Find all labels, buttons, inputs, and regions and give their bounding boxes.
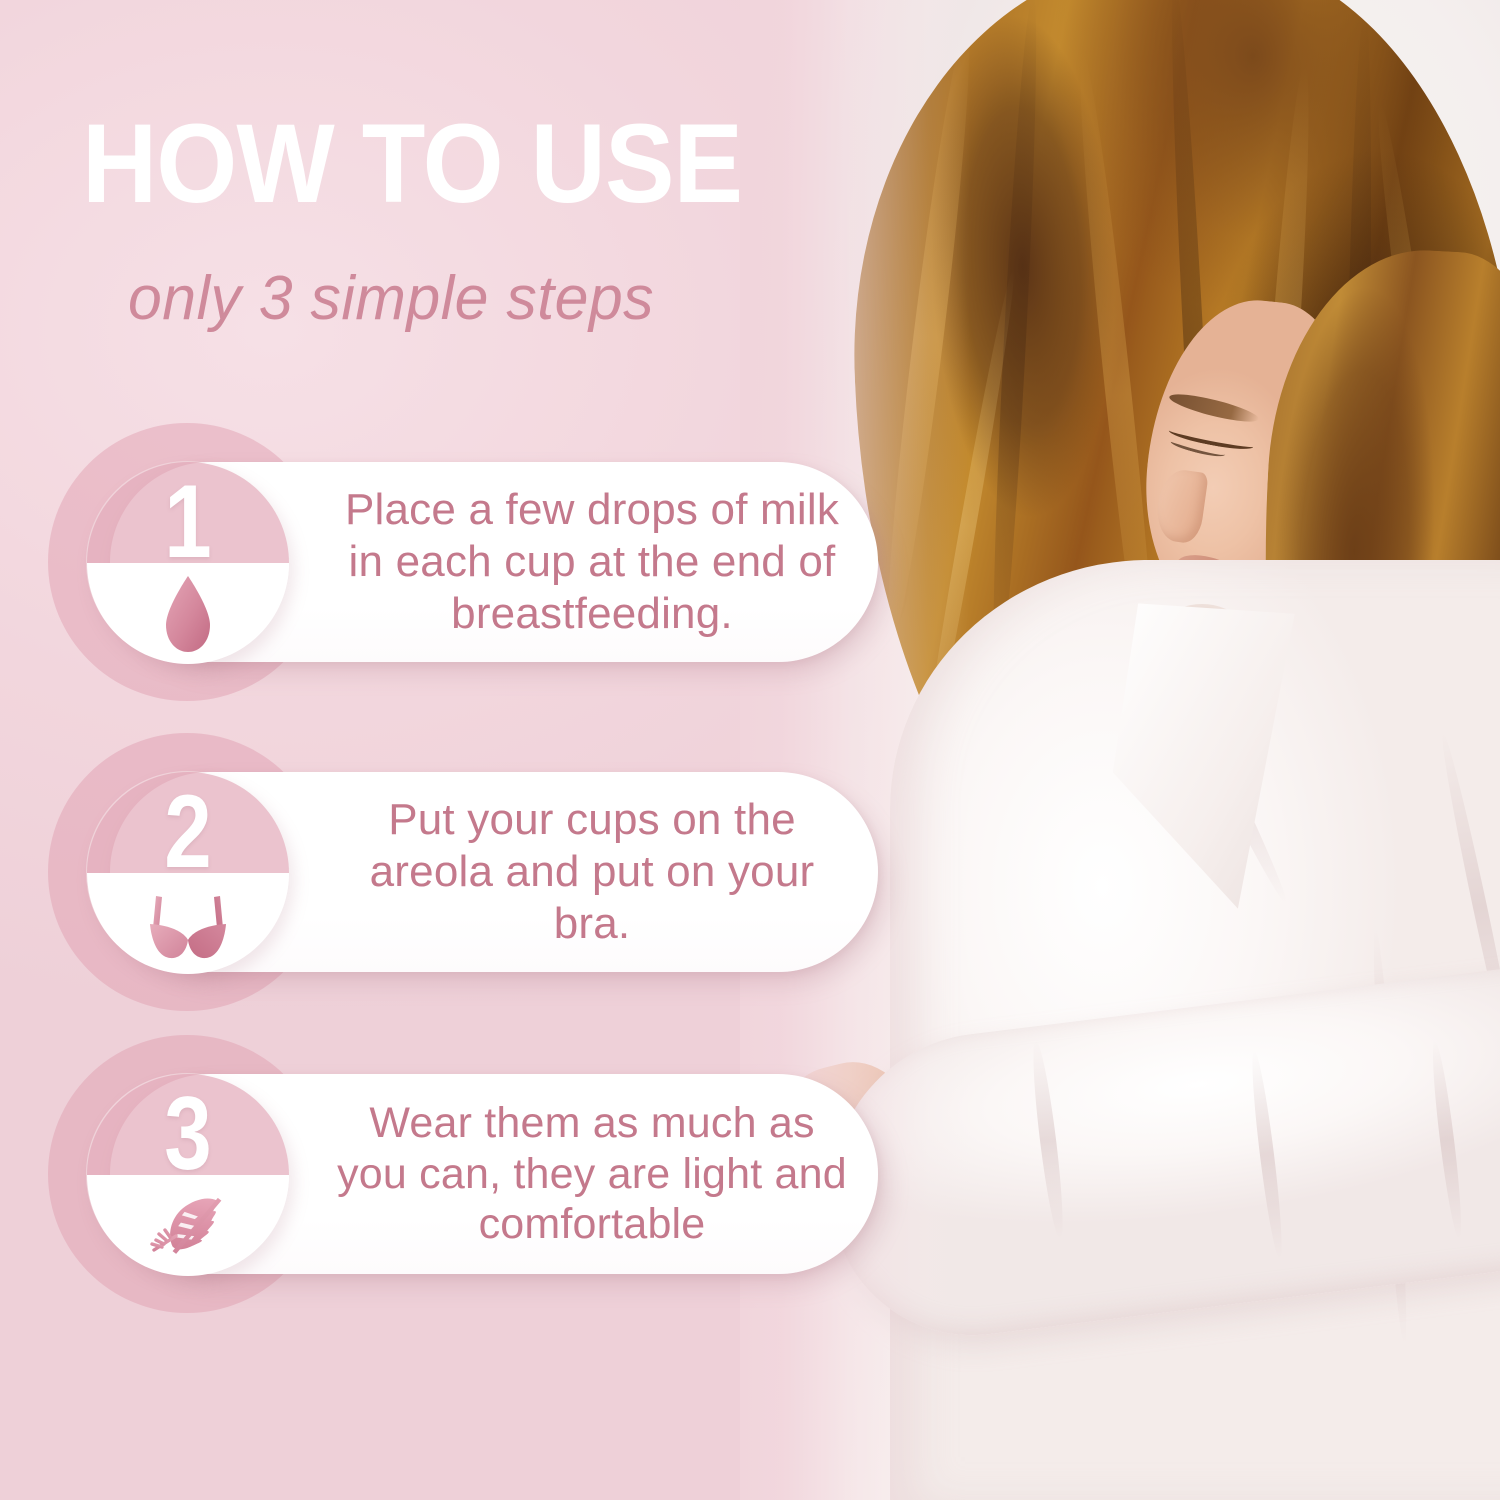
- step-badge-bottom: [87, 563, 289, 664]
- step-badge-bottom: [87, 873, 289, 974]
- step-badge-bottom: [87, 1175, 289, 1276]
- step-copy: Wear them as much as you can, they are l…: [298, 1074, 872, 1274]
- bra-icon: [142, 880, 234, 968]
- step-text: Wear them as much as you can, they are l…: [334, 1098, 850, 1250]
- infographic-canvas: HOW TO USE only 3 simple steps 1: [0, 0, 1500, 1500]
- step-copy: Put your cups on the areola and put on y…: [298, 772, 872, 972]
- step-text: Put your cups on the areola and put on y…: [334, 794, 850, 950]
- feather-icon: [142, 1182, 234, 1270]
- page-title: HOW TO USE: [82, 108, 742, 220]
- step-badge: 3: [87, 1074, 289, 1276]
- step-badge: 2: [87, 772, 289, 974]
- step-number: 2: [164, 787, 211, 879]
- step-badge-top: 1: [87, 462, 289, 563]
- milk-drop-icon: [142, 570, 234, 658]
- step-number: 1: [164, 477, 211, 569]
- list-item: 3: [48, 1035, 888, 1315]
- step-badge-top: 3: [87, 1074, 289, 1175]
- list-item: 2: [48, 733, 888, 1013]
- page-subtitle: only 3 simple steps: [128, 268, 654, 330]
- step-number: 3: [164, 1089, 211, 1181]
- step-copy: Place a few drops of milk in each cup at…: [298, 462, 872, 662]
- list-item: 1 Place: [48, 423, 888, 703]
- step-text: Place a few drops of milk in each cup at…: [334, 484, 850, 640]
- step-badge: 1: [87, 462, 289, 664]
- step-badge-top: 2: [87, 772, 289, 873]
